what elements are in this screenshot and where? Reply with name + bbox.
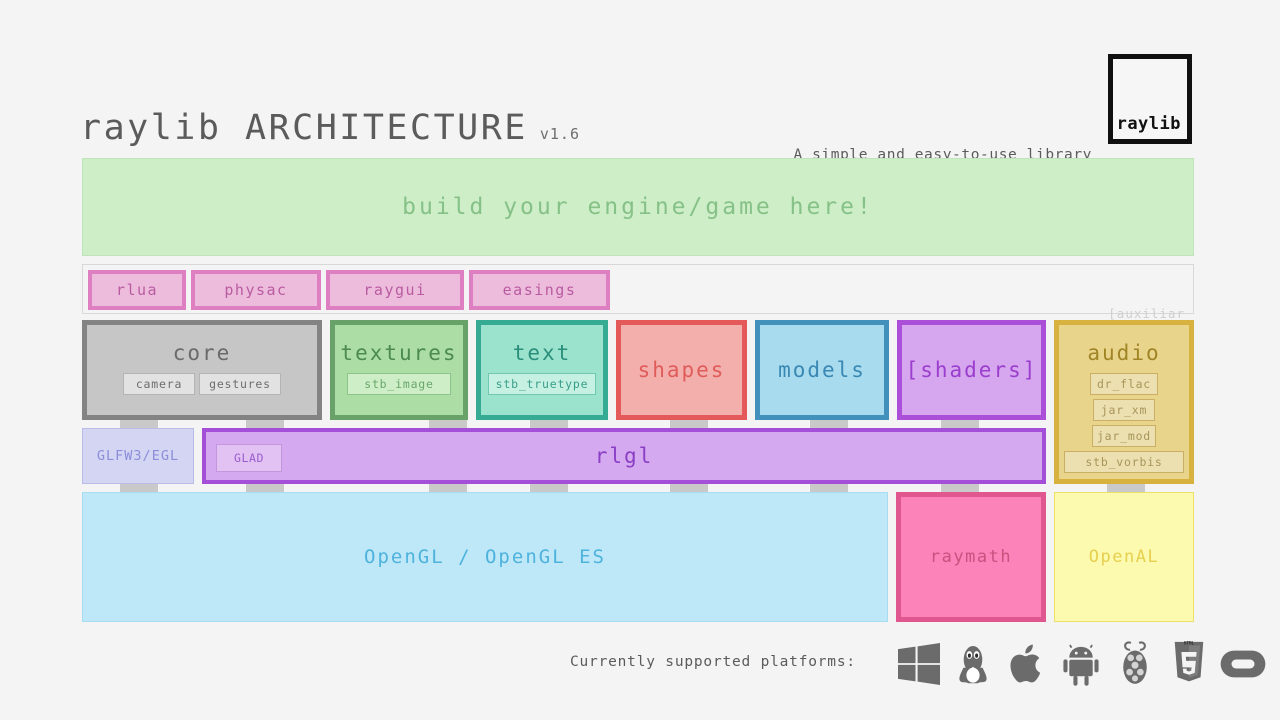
aux-module-physac: physac: [191, 270, 321, 310]
submodule-stb_vorbis: stb_vorbis: [1064, 451, 1184, 473]
submodule-gestures: gestures: [199, 373, 281, 395]
module-title: audio: [1087, 341, 1160, 365]
submodule-glad: GLAD: [216, 444, 282, 472]
module-models: models: [755, 320, 889, 420]
module-title: text: [513, 341, 572, 365]
build-your-game-banner: build your engine/game here!: [82, 158, 1194, 256]
module-text: textstb_truetype: [476, 320, 608, 420]
supported-platforms-label: Currently supported platforms:: [570, 654, 856, 670]
submodule-dr_flac: dr_flac: [1090, 373, 1158, 395]
module-shaders: [shaders]: [897, 320, 1046, 420]
module-title: [shaders]: [906, 358, 1038, 382]
aux-module-easings: easings: [469, 270, 610, 310]
aux-module-label: rlua: [116, 281, 158, 299]
submodule-stb_image: stb_image: [347, 373, 451, 395]
module-raymath: raymath: [896, 492, 1046, 622]
module-title: textures: [340, 341, 457, 365]
aux-module-rlua: rlua: [88, 270, 186, 310]
aux-module-label: raygui: [363, 281, 426, 299]
aux-module-label: easings: [503, 281, 577, 299]
module-core: corecameragestures: [82, 320, 322, 420]
rlgl-label: rlgl: [595, 444, 654, 468]
build-banner-label: build your engine/game here!: [402, 194, 874, 220]
aux-module-label: physac: [224, 281, 287, 299]
openal-label: OpenAL: [1089, 547, 1159, 567]
raymath-label: raymath: [930, 547, 1012, 567]
raylib-logo: raylib: [1108, 54, 1192, 144]
module-textures: texturesstb_image: [330, 320, 468, 420]
oculus-icon: [1220, 639, 1266, 689]
html5-icon: HTML: [1166, 639, 1212, 689]
architecture-diagram: raylib ARCHITECTURE v1.6 A simple and ea…: [0, 0, 1280, 720]
glfw3-egl-label: GLFW3/EGL: [97, 448, 179, 464]
submodule-group: stb_truetype: [481, 373, 603, 395]
page-title: raylib ARCHITECTURE v1.6: [80, 108, 580, 148]
raspberry-pi-icon: [1112, 639, 1158, 689]
module-rlgl: rlgl GLAD: [202, 428, 1046, 484]
logo-label: raylib: [1117, 114, 1187, 139]
submodule-group: stb_image: [335, 373, 463, 395]
module-title: core: [173, 341, 232, 365]
module-shapes: shapes: [616, 320, 747, 420]
svg-text:HTML: HTML: [1184, 640, 1194, 645]
opengl-label: OpenGL / OpenGL ES: [364, 546, 606, 568]
module-title: models: [778, 358, 866, 382]
module-audio: audiodr_flacjar_xmjar_modstb_vorbis: [1054, 320, 1194, 484]
linux-icon: [950, 639, 996, 689]
version-label: v1.6: [540, 125, 580, 143]
layer-openal: OpenAL: [1054, 492, 1194, 622]
apple-icon: [1004, 639, 1050, 689]
aux-module-raygui: raygui: [326, 270, 464, 310]
submodule-stb_truetype: stb_truetype: [488, 373, 596, 395]
android-icon: [1058, 639, 1104, 689]
auxiliar-modules-row: [auxiliar modules] rluaphysacrayguieasin…: [82, 264, 1194, 314]
submodule-jar_xm: jar_xm: [1093, 399, 1155, 421]
submodule-camera: camera: [123, 373, 195, 395]
windows-icon: [896, 639, 942, 689]
submodule-group: dr_flacjar_xmjar_modstb_vorbis: [1059, 373, 1189, 473]
title-text: raylib ARCHITECTURE: [80, 108, 528, 148]
submodule-group: cameragestures: [87, 373, 317, 395]
module-glfw3-egl: GLFW3/EGL: [82, 428, 194, 484]
layer-opengl: OpenGL / OpenGL ES: [82, 492, 888, 622]
module-title: shapes: [638, 358, 726, 382]
submodule-jar_mod: jar_mod: [1092, 425, 1156, 447]
platform-icons-row: HTML: [896, 637, 1266, 691]
